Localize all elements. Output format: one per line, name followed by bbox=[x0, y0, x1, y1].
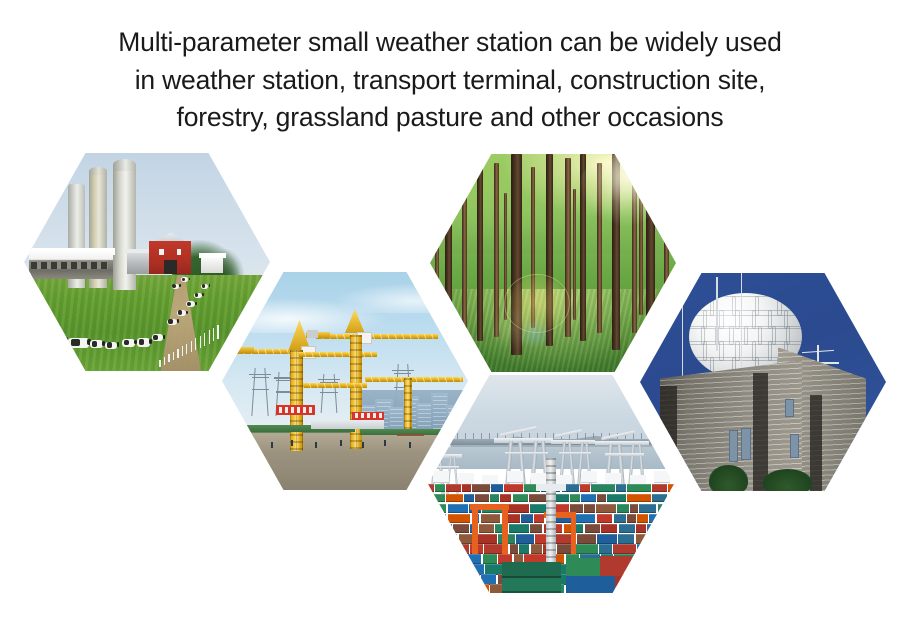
page-title-line-2: in weather station, transport terminal, … bbox=[0, 62, 900, 100]
hex-image-construction-site bbox=[222, 272, 468, 490]
page-title-line-1: Multi-parameter small weather station ca… bbox=[0, 24, 900, 62]
hex-image-weather-station bbox=[640, 273, 886, 491]
hex-image-transport-terminal bbox=[428, 375, 674, 593]
page-title: Multi-parameter small weather station ca… bbox=[0, 24, 900, 137]
hex-image-grassland-pasture bbox=[24, 153, 270, 371]
page-title-line-3: forestry, grassland pasture and other oc… bbox=[0, 99, 900, 137]
page-root: Multi-parameter small weather station ca… bbox=[0, 0, 900, 636]
hex-image-forestry bbox=[430, 154, 676, 372]
